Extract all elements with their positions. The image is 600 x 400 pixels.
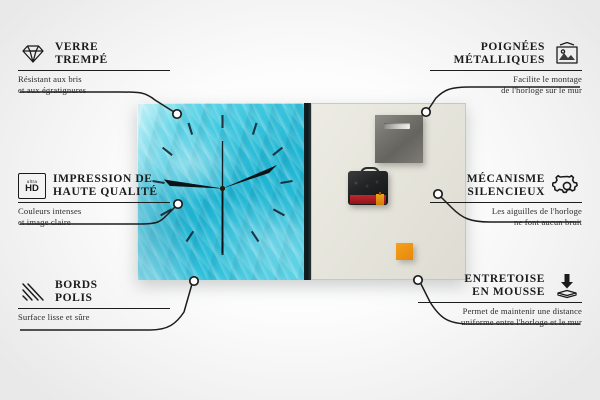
callout-title-line1: IMPRESSION DE — [53, 173, 158, 186]
diamond-icon — [18, 42, 48, 66]
product-image — [137, 103, 466, 280]
callout-sub-line2: de l'horloge sur le mur — [430, 85, 582, 96]
callout-rule — [18, 70, 170, 71]
callout-title-line2: TREMPÉ — [55, 54, 108, 67]
callout-header: ENTRETOISE EN MOUSSE — [418, 273, 582, 299]
callout-title-line2: SILENCIEUX — [467, 186, 545, 199]
callout-sub-line1: Facilite le montage — [430, 74, 582, 85]
callout-sub-line2: uniforme entre l'horloge et le mur — [418, 317, 582, 328]
mechanism-detail — [352, 179, 382, 192]
mechanism-body — [348, 171, 388, 205]
foam-spacer-icon — [552, 273, 582, 299]
gear-icon — [552, 174, 582, 198]
callout-rule — [430, 70, 582, 71]
callout-title-line2: MÉTALLIQUES — [454, 54, 545, 67]
ultra-hd-icon-hd: HD — [25, 184, 39, 194]
callout-verre-trempe: VERRE TREMPÉ Résistant aux bris et aux é… — [18, 41, 170, 96]
callout-rule — [430, 202, 582, 203]
callout-rule — [18, 308, 170, 309]
callout-title-line1: BORDS — [55, 279, 98, 292]
callout-header: MÉCANISME SILENCIEUX — [430, 173, 582, 199]
callout-title-line1: MÉCANISME — [467, 173, 545, 186]
callout-rule — [418, 302, 582, 303]
callout-bords-polis: BORDS POLIS Surface lisse et sûre — [18, 279, 170, 323]
callout-sub-line2: et image claire — [18, 217, 170, 228]
callout-sub-line2: ne font aucun bruit — [430, 217, 582, 228]
callout-sub-line2: et aux égratignures — [18, 85, 170, 96]
callout-poignees-metalliques: POIGNÉES MÉTALLIQUES Facilite le montage… — [430, 41, 582, 96]
callout-title-line2: POLIS — [55, 292, 98, 305]
callout-header: ultra HD IMPRESSION DE HAUTE QUALITÉ — [18, 173, 170, 199]
callout-header: VERRE TREMPÉ — [18, 41, 170, 67]
callout-title-line1: POIGNÉES — [454, 41, 545, 54]
wall-hanger-icon — [552, 42, 582, 66]
callout-header: POIGNÉES MÉTALLIQUES — [430, 41, 582, 67]
polished-edges-icon — [18, 280, 48, 304]
clock-mechanism — [348, 167, 388, 205]
callout-title-line1: VERRE — [55, 41, 108, 54]
callout-sub-line1: Permet de maintenir une distance — [418, 306, 582, 317]
ultra-hd-icon: ultra HD — [18, 173, 46, 199]
callout-sub-line1: Surface lisse et sûre — [18, 312, 170, 323]
hanger-slot — [384, 123, 410, 129]
callout-title-line2: EN MOUSSE — [464, 286, 545, 299]
callout-impression-haute-qualite: ultra HD IMPRESSION DE HAUTE QUALITÉ Cou… — [18, 173, 170, 228]
callout-sub-line1: Résistant aux bris — [18, 74, 170, 85]
callout-title-line2: HAUTE QUALITÉ — [53, 186, 158, 199]
callout-rule — [18, 202, 170, 203]
foam-spacer — [396, 243, 413, 260]
callout-entretoise-en-mousse: ENTRETOISE EN MOUSSE Permet de maintenir… — [418, 273, 582, 328]
callout-title-line1: ENTRETOISE — [464, 273, 545, 286]
callout-header: BORDS POLIS — [18, 279, 170, 305]
callout-sub-line1: Les aiguilles de l'horloge — [430, 206, 582, 217]
battery-icon — [376, 194, 384, 205]
infographic-canvas: VERRE TREMPÉ Résistant aux bris et aux é… — [0, 0, 600, 400]
metal-hanger-plate — [375, 115, 423, 163]
panel-edge-divider — [304, 103, 311, 280]
callout-mecanisme-silencieux: MÉCANISME SILENCIEUX Les aiguilles de l'… — [430, 173, 582, 228]
callout-sub-line1: Couleurs intenses — [18, 206, 170, 217]
